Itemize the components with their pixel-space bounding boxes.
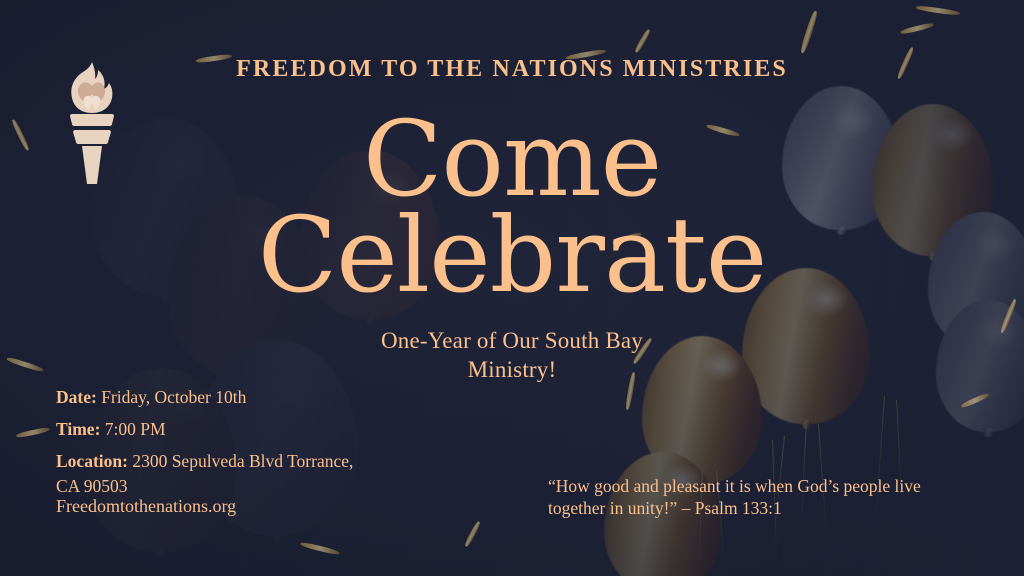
subtitle-line-2: Ministry! (0, 355, 1024, 384)
subtitle-line-1: One-Year of Our South Bay (0, 326, 1024, 355)
headline-line-2: Celebrate (0, 208, 1024, 304)
organization-name: FREEDOM TO THE NATIONS MINISTRIES (0, 56, 1024, 83)
event-subtitle: One-Year of Our South Bay Ministry! (0, 326, 1024, 385)
detail-row-location: Location: 2300 Sepulveda Blvd Torrance, … (56, 449, 356, 499)
detail-row-time: Time: 7:00 PM (56, 417, 356, 442)
location-label: Location: (56, 451, 128, 471)
event-details: Date: Friday, October 10th Time: 7:00 PM… (56, 385, 356, 505)
event-flyer: FREEDOM TO THE NATIONS MINISTRIES Come C… (0, 0, 1024, 576)
date-value: Friday, October 10th (101, 387, 246, 407)
date-label: Date: (56, 387, 97, 407)
website-link[interactable]: Freedomtothenations.org (56, 496, 236, 517)
time-value: 7:00 PM (105, 419, 166, 439)
page-title: Come Celebrate (0, 112, 1024, 303)
scripture-quote: “How good and pleasant it is when God’s … (548, 475, 968, 521)
detail-row-date: Date: Friday, October 10th (56, 385, 356, 410)
time-label: Time: (56, 419, 100, 439)
